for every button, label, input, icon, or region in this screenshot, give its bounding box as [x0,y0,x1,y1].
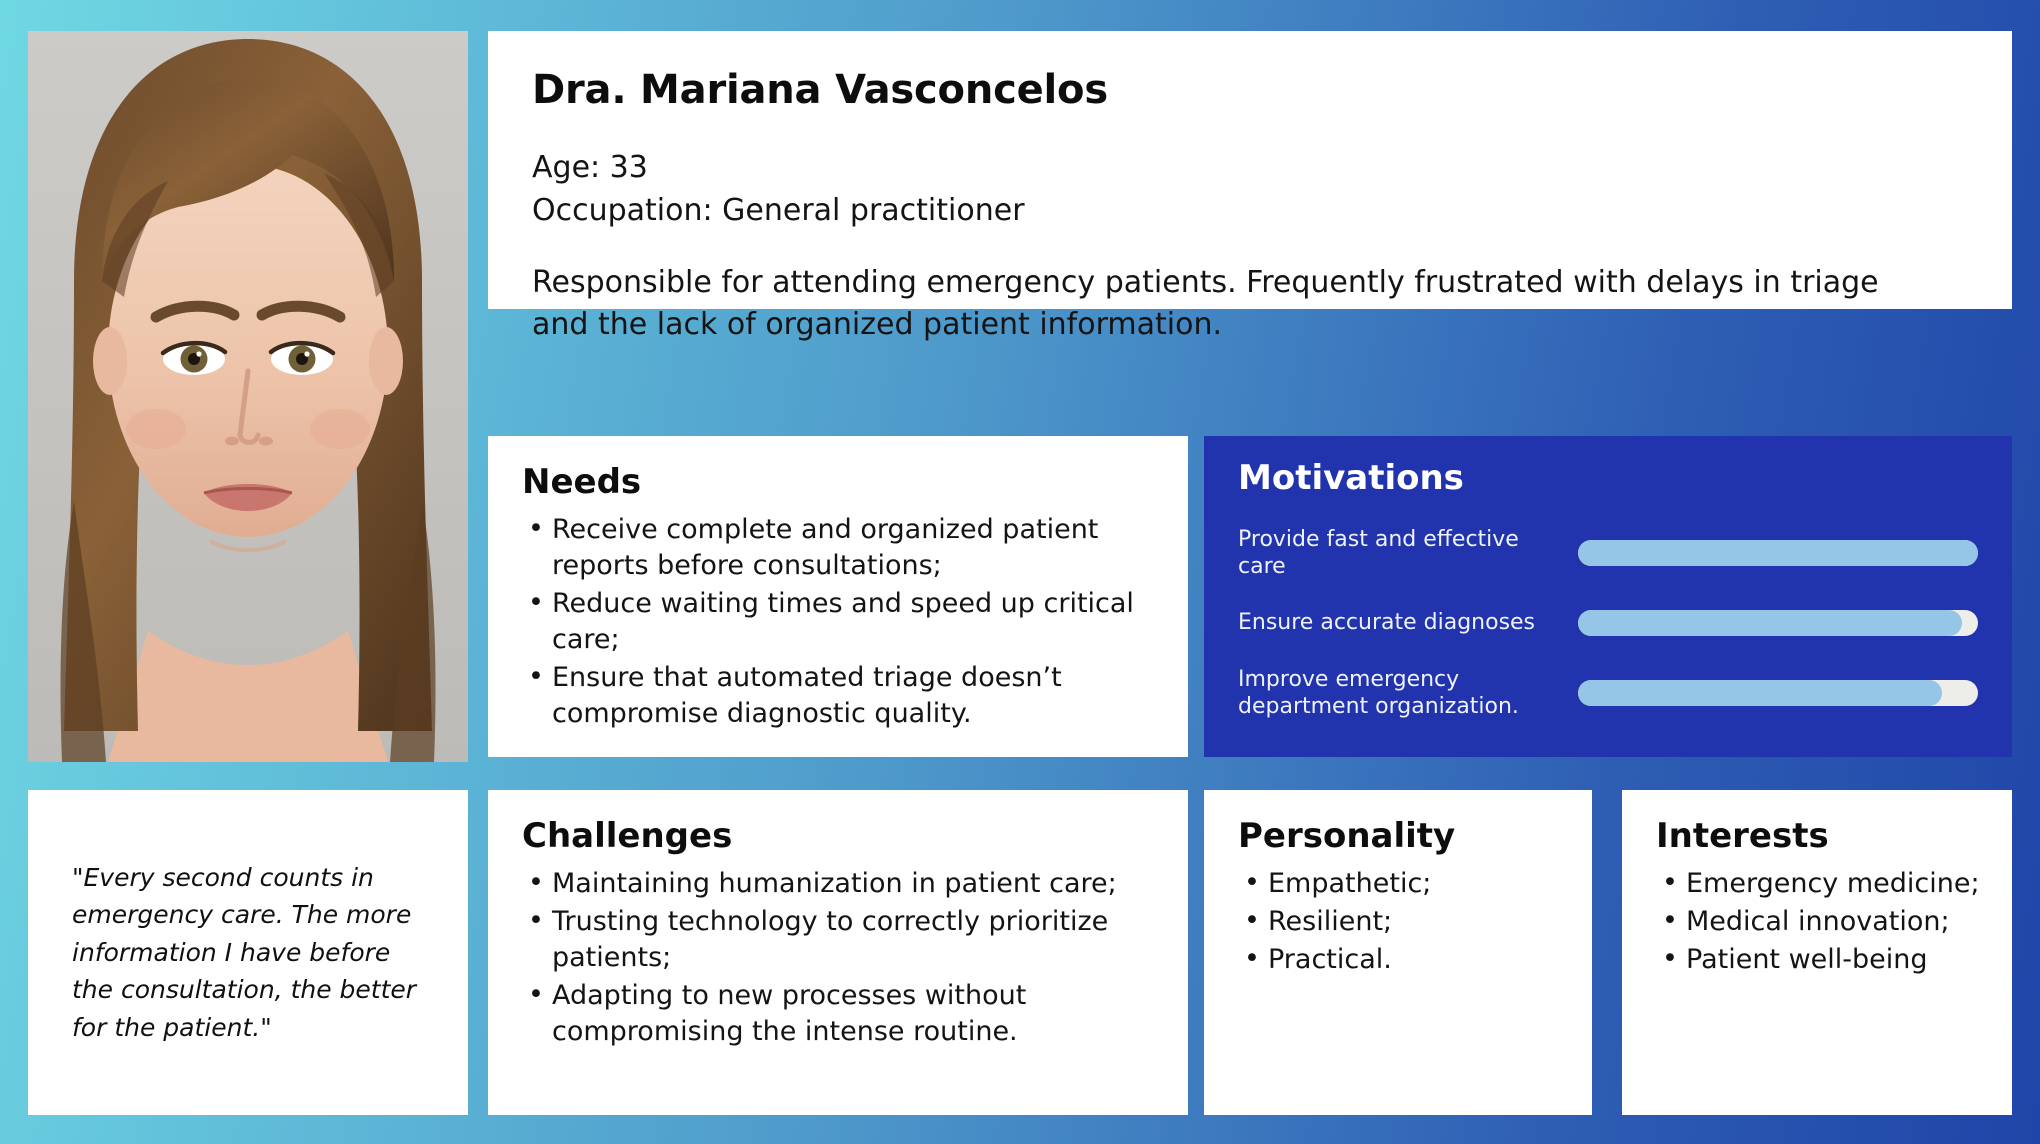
motivation-progress-bar [1578,680,1978,706]
needs-card: Needs Receive complete and organized pat… [488,436,1188,757]
persona-meta: Age: 33 Occupation: General practitioner [532,147,1968,232]
persona-occupation: Occupation: General practitioner [532,190,1968,233]
list-item: Adapting to new processes without compro… [522,978,1154,1050]
list-item: Maintaining humanization in patient care… [522,866,1154,902]
motivation-progress-bar [1578,610,1978,636]
motivation-progress-fill [1578,540,1978,566]
persona-name: Dra. Mariana Vasconcelos [532,67,1968,113]
list-item: Emergency medicine; [1656,866,1986,902]
interests-list: Emergency medicine; Medical innovation; … [1656,866,1986,978]
list-item: Practical. [1238,942,1562,978]
motivation-label: Provide fast and effective care [1238,526,1578,581]
persona-description: Responsible for attending emergency pati… [532,262,1932,346]
motivations-title: Motivations [1238,458,1978,498]
list-item: Reduce waiting times and speed up critic… [522,586,1154,658]
personality-list: Empathetic; Resilient; Practical. [1238,866,1562,978]
persona-quote: "Every second counts in emergency care. … [72,859,424,1047]
interests-title: Interests [1656,816,1986,856]
list-item: Patient well-being [1656,942,1986,978]
persona-header-card: Dra. Mariana Vasconcelos Age: 33 Occupat… [488,31,2012,309]
motivation-progress-bar [1578,540,1978,566]
portrait-illustration [28,31,468,762]
motivation-label: Improve emergency department organizatio… [1238,666,1578,721]
motivation-row: Ensure accurate diagnoses [1238,592,1978,654]
challenges-title: Challenges [522,816,1154,856]
list-item: Receive complete and organized patient r… [522,512,1154,584]
motivation-label: Ensure accurate diagnoses [1238,609,1578,637]
persona-age: Age: 33 [532,147,1968,190]
persona-photo [28,31,468,762]
personality-card: Personality Empathetic; Resilient; Pract… [1204,790,1592,1115]
motivation-progress-fill [1578,680,1942,706]
quote-card: "Every second counts in emergency care. … [28,790,468,1115]
list-item: Medical innovation; [1656,904,1986,940]
challenges-list: Maintaining humanization in patient care… [522,866,1154,1050]
motivation-row: Provide fast and effective care [1238,522,1978,584]
challenges-card: Challenges Maintaining humanization in p… [488,790,1188,1115]
persona-board: Dra. Mariana Vasconcelos Age: 33 Occupat… [0,0,2040,1144]
motivations-list: Provide fast and effective care Ensure a… [1238,522,1978,724]
list-item: Trusting technology to correctly priorit… [522,904,1154,976]
personality-title: Personality [1238,816,1562,856]
motivation-progress-fill [1578,610,1962,636]
motivations-card: Motivations Provide fast and effective c… [1204,436,2012,757]
motivation-row: Improve emergency department organizatio… [1238,662,1978,724]
needs-title: Needs [522,462,1154,502]
list-item: Ensure that automated triage doesn’t com… [522,660,1154,732]
list-item: Empathetic; [1238,866,1562,902]
needs-list: Receive complete and organized patient r… [522,512,1154,731]
list-item: Resilient; [1238,904,1562,940]
interests-card: Interests Emergency medicine; Medical in… [1622,790,2012,1115]
